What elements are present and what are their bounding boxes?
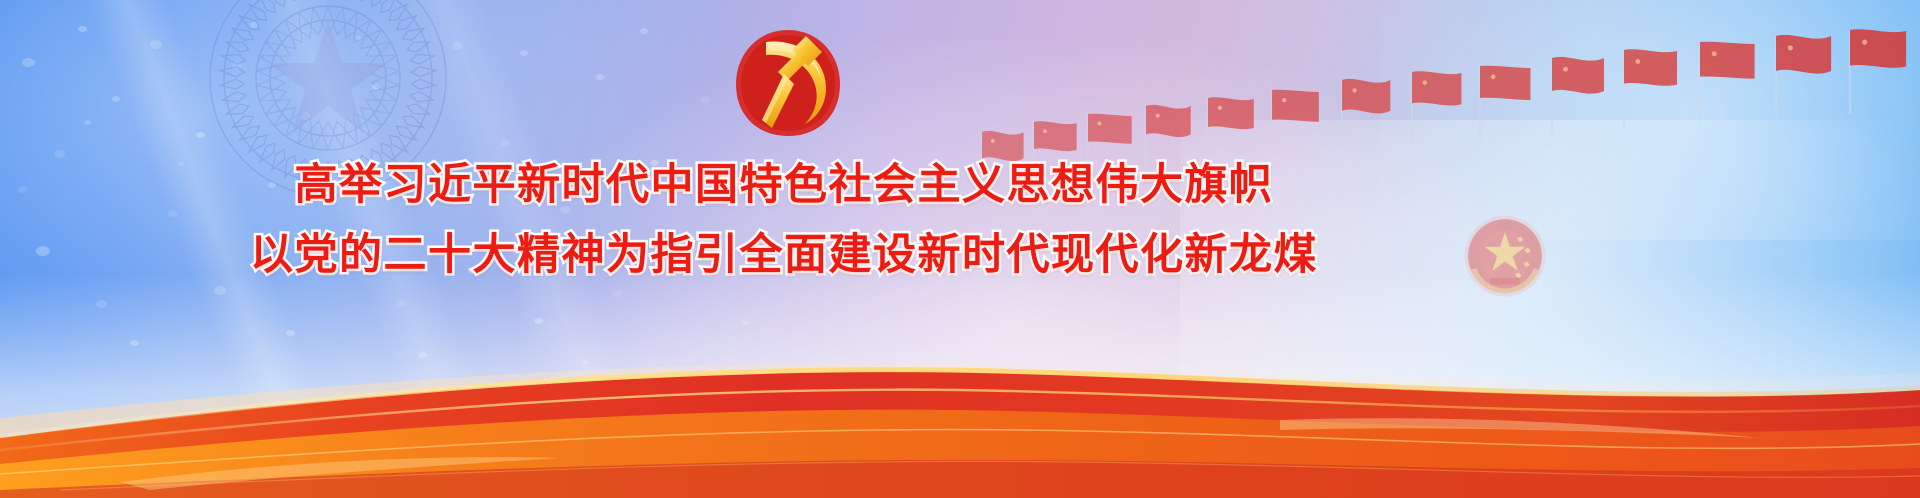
national-emblem-icon: [1465, 216, 1546, 297]
cloud-haze-center: [520, 40, 1500, 498]
great-hall-of-the-people: [1245, 86, 1920, 498]
headline-line-1: 高举习近平新时代中国特色社会主义思想伟大旗帜: [0, 150, 1568, 220]
national-flag-row: [960, 10, 1920, 190]
cloud-haze-left: [0, 0, 720, 380]
party-propaganda-banner: 高举习近平新时代中国特色社会主义思想伟大旗帜 以党的二十大精神为指引全面建设新时…: [0, 0, 1920, 498]
cloud-haze-right: [1180, 120, 1920, 498]
headline-line-2: 以党的二十大精神为指引全面建设新时代现代化新龙煤: [0, 220, 1568, 290]
headline-block: 高举习近平新时代中国特色社会主义思想伟大旗帜 以党的二十大精神为指引全面建设新时…: [0, 150, 1568, 290]
cloud-haze-top-right: [1380, 0, 1920, 240]
cpc-party-emblem-icon: [726, 24, 850, 142]
bokeh-dots: [0, 0, 1920, 420]
light-sweep-bands: [0, 0, 919, 498]
ceiling-star-motif-icon: [178, 0, 478, 228]
ribbon-wave-decoration: [0, 268, 1920, 498]
